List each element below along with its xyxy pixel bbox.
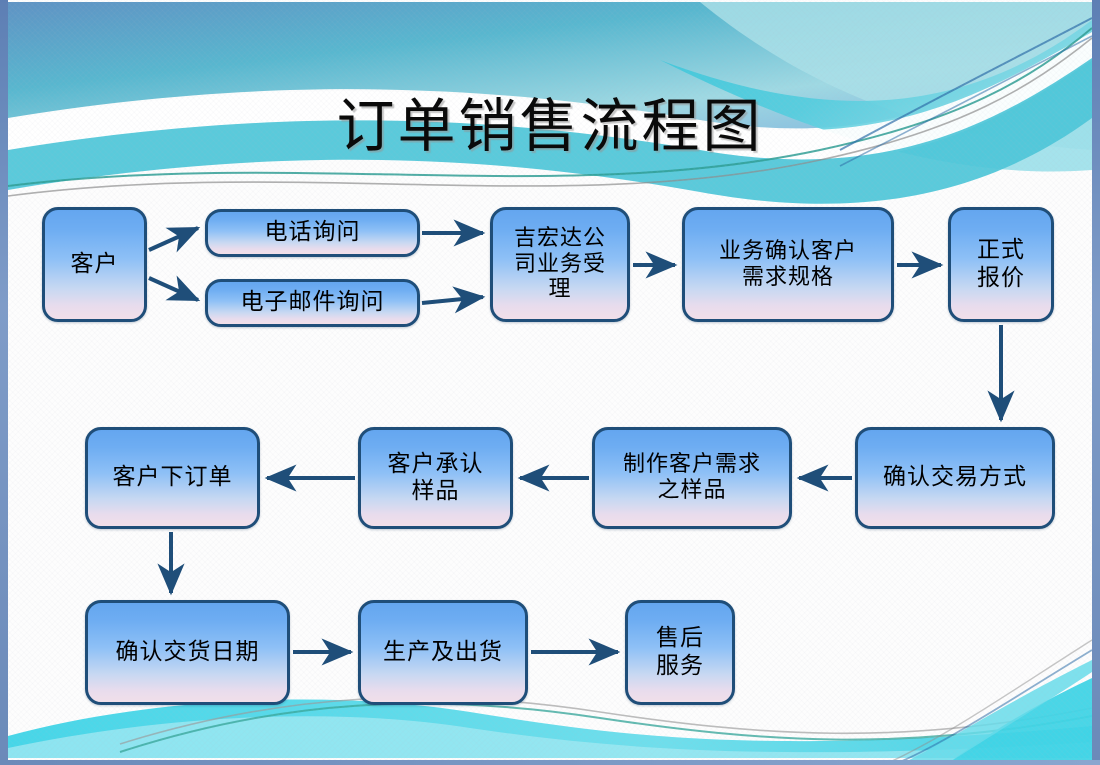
node-confirm-terms-label: 确认交易方式 bbox=[883, 464, 1027, 491]
node-make-sample-label: 制作客户需求 之样品 bbox=[623, 452, 761, 504]
node-after-service-label: 售后 服务 bbox=[656, 625, 704, 679]
node-confirm-terms[interactable]: 确认交易方式 bbox=[855, 427, 1055, 529]
node-make-sample[interactable]: 制作客户需求 之样品 bbox=[592, 427, 792, 529]
edge-customer-email bbox=[149, 278, 198, 300]
node-confirm-specs-label: 业务确认客户 需求规格 bbox=[719, 239, 857, 291]
node-after-service[interactable]: 售后 服务 bbox=[625, 600, 735, 705]
node-confirm-specs[interactable]: 业务确认客户 需求规格 bbox=[682, 207, 894, 322]
edge-customer-phone bbox=[149, 228, 198, 250]
node-confirm-delivery[interactable]: 确认交货日期 bbox=[85, 600, 290, 705]
node-approve-sample-label: 客户承认 样品 bbox=[388, 451, 484, 505]
node-place-order-label: 客户下订单 bbox=[113, 464, 233, 491]
node-phone-inquiry[interactable]: 电话询问 bbox=[205, 209, 420, 257]
edge-email-intake bbox=[422, 297, 483, 303]
node-company-intake[interactable]: 吉宏达公 司业务受 理 bbox=[490, 207, 630, 322]
node-phone-inquiry-label: 电话询问 bbox=[265, 219, 361, 246]
node-customer-label: 客户 bbox=[71, 251, 119, 278]
node-customer[interactable]: 客户 bbox=[42, 207, 147, 322]
node-formal-quote-label: 正式 报价 bbox=[977, 237, 1025, 291]
node-company-intake-label: 吉宏达公 司业务受 理 bbox=[514, 226, 606, 304]
node-email-inquiry-label: 电子邮件询问 bbox=[241, 289, 385, 316]
node-approve-sample[interactable]: 客户承认 样品 bbox=[358, 427, 513, 529]
node-produce-ship[interactable]: 生产及出货 bbox=[358, 600, 528, 705]
node-confirm-delivery-label: 确认交货日期 bbox=[116, 639, 260, 666]
node-place-order[interactable]: 客户下订单 bbox=[85, 427, 260, 529]
slide-canvas: 订单销售流程图 bbox=[0, 0, 1100, 765]
node-formal-quote[interactable]: 正式 报价 bbox=[948, 207, 1054, 322]
node-email-inquiry[interactable]: 电子邮件询问 bbox=[205, 279, 420, 327]
node-produce-ship-label: 生产及出货 bbox=[383, 639, 503, 666]
